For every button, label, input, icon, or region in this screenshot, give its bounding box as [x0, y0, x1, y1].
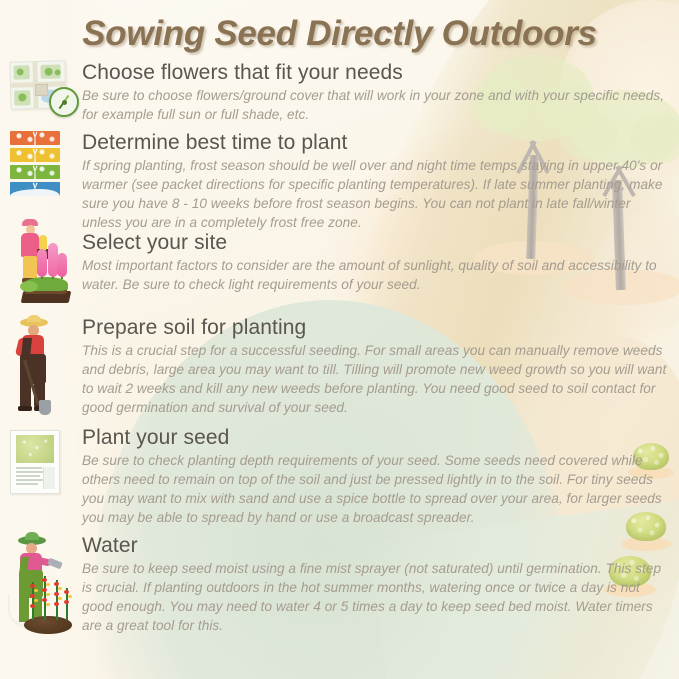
season-band-spring [10, 165, 60, 179]
step-item-choose-flowers: Choose flowers that fit your needs Be su… [0, 61, 679, 131]
seed-packet-icon [10, 426, 72, 494]
seed-packet-photo-texture [16, 435, 54, 463]
step-icon-container [10, 426, 78, 494]
gardener-boot [18, 406, 32, 411]
infographic-poster: Sowing Seed Directly Outdoors [0, 0, 679, 679]
step-description: Be sure to keep seed moist using a fine … [82, 559, 671, 636]
season-band-summer [10, 148, 60, 162]
gardener-watering-icon [10, 534, 72, 634]
step-body: Plant your seed Be sure to check plantin… [82, 426, 679, 528]
garden-plan-compass-icon [10, 61, 72, 109]
figure-legs [23, 256, 37, 280]
four-seasons-icon [10, 131, 60, 196]
step-item-water: Water Be sure to keep seed moist using a… [0, 534, 679, 642]
step-icon-container [10, 131, 78, 199]
step-heading: Determine best time to plant [82, 131, 671, 155]
step-icon-container [10, 316, 78, 416]
step-body: Prepare soil for planting This is a cruc… [82, 316, 679, 418]
step-item-determine-time: Determine best time to plant If spring p… [0, 131, 679, 231]
step-heading: Select your site [82, 231, 671, 255]
shovel-blade [39, 400, 51, 415]
step-icon-container [10, 61, 78, 109]
step-body: Choose flowers that fit your needs Be su… [82, 61, 679, 124]
step-heading: Plant your seed [82, 426, 671, 450]
step-heading: Water [82, 534, 671, 558]
step-body: Water Be sure to keep seed moist using a… [82, 534, 679, 636]
step-body: Determine best time to plant If spring p… [82, 131, 679, 233]
woman-planting-flowers-icon [10, 219, 72, 305]
season-band-winter [10, 182, 60, 196]
waterer-hat-crown [25, 532, 39, 540]
step-description: This is a crucial step for a successful … [82, 341, 671, 418]
step-icon-container [10, 534, 78, 634]
seed-packet-side-panel [43, 467, 55, 489]
flower-bloom [57, 253, 67, 277]
steps-list: Choose flowers that fit your needs Be su… [0, 61, 679, 642]
seed-packet [10, 430, 60, 494]
step-body: Select your site Most important factors … [82, 231, 679, 294]
step-description: Be sure to choose flowers/ground cover t… [82, 86, 671, 125]
flower-bloom [37, 249, 47, 277]
step-item-select-site: Select your site Most important factors … [0, 231, 679, 316]
plant-stem [56, 580, 58, 620]
season-band-autumn [10, 131, 60, 145]
step-icon-container [10, 231, 78, 305]
gardener-with-shovel-icon [10, 316, 72, 416]
spray-nozzle [47, 558, 63, 570]
compass-icon [49, 87, 79, 117]
page-title: Sowing Seed Directly Outdoors [0, 14, 679, 54]
seed-packet-photo [16, 435, 54, 463]
gardener-hat-crown [27, 315, 41, 322]
step-heading: Prepare soil for planting [82, 316, 671, 340]
step-description: If spring planting, frost season should … [82, 156, 671, 233]
compass-hub [62, 100, 67, 105]
step-item-plant-seed: Plant your seed Be sure to check plantin… [0, 426, 679, 534]
step-description: Most important factors to consider are t… [82, 256, 671, 295]
step-description: Be sure to check planting depth requirem… [82, 451, 671, 528]
step-item-prepare-soil: Prepare soil for planting This is a cruc… [0, 316, 679, 426]
planter-foliage [20, 281, 38, 292]
step-heading: Choose flowers that fit your needs [82, 61, 671, 85]
